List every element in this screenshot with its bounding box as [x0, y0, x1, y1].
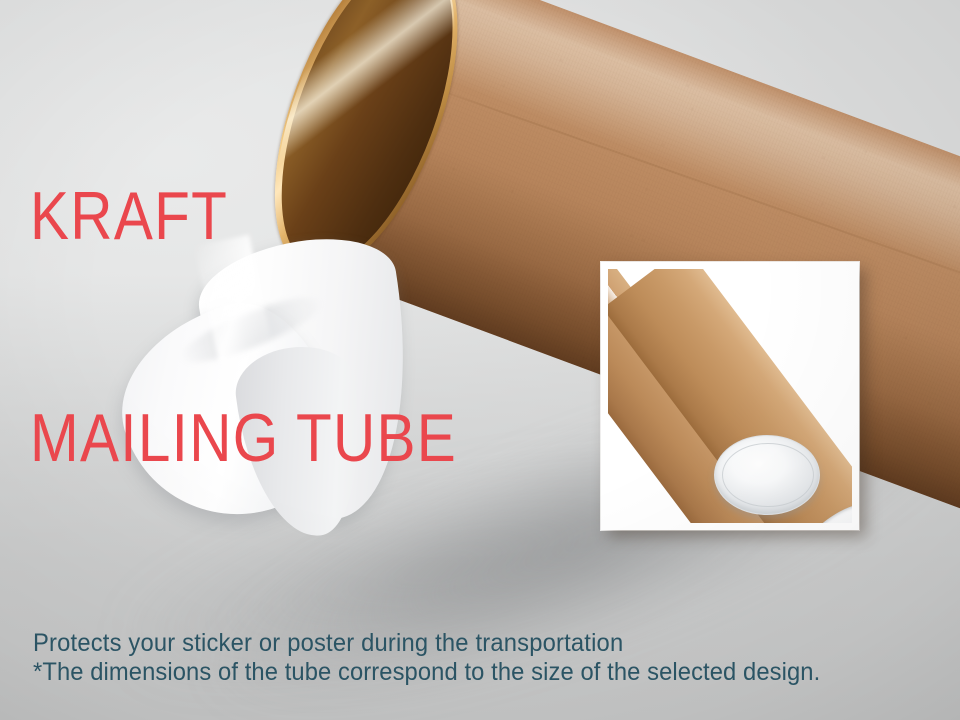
page-title: KRAFT MAILING TUBE	[30, 31, 457, 623]
title-line-2: MAILING TUBE	[30, 401, 457, 475]
title-line-1: KRAFT	[30, 179, 457, 253]
footnote-text: *The dimensions of the tube correspond t…	[33, 656, 820, 688]
feature-list: Protects your sticker or poster during t…	[33, 558, 680, 720]
feature-line-1: Protects your sticker or poster during t…	[33, 626, 680, 660]
product-promo-image: KRAFT MAILING TUBE Protects your sticker…	[0, 0, 960, 720]
